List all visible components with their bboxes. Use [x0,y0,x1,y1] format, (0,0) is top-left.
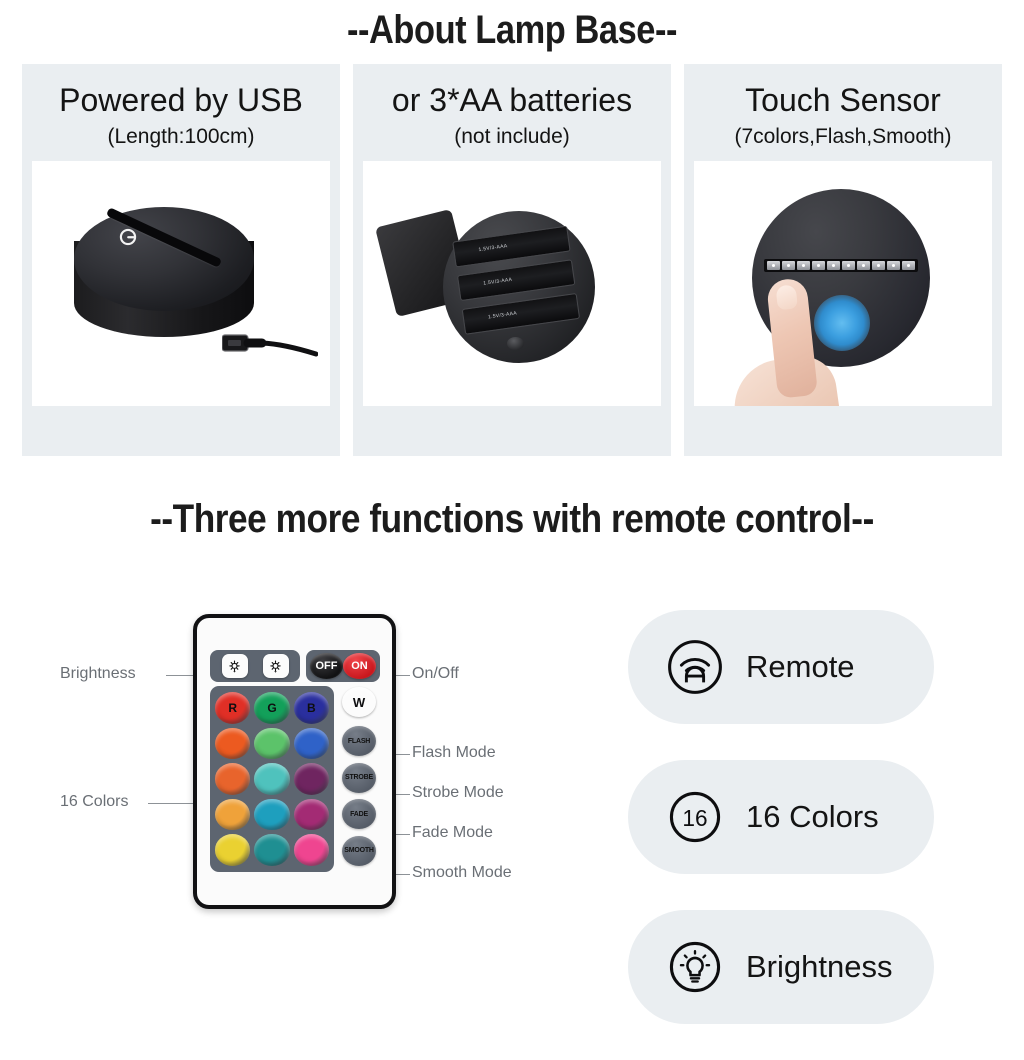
callout-on-off: On/Off [412,665,459,683]
sun-down-icon [268,659,283,674]
remote-control[interactable]: OFF ON R G B [193,614,396,909]
led-chip [887,261,900,270]
battery-slot: 1.5V/3-AAA [462,293,580,335]
battery-bay: 1.5V/3-AAA 1.5V/3-AAA 1.5V/3-AAA [452,225,584,346]
remote-keypad: OFF ON R G B [210,650,380,872]
led-chip [872,261,885,270]
led-strip [764,259,918,272]
card-touch-sensor: Touch Sensor (7colors,Flash,Smooth) [684,64,1002,456]
brightness-bulb-icon [666,938,724,996]
fade-mode-button[interactable]: FADE [342,799,376,829]
lamp-base-underside: 1.5V/3-AAA 1.5V/3-AAA 1.5V/3-AAA [443,211,595,363]
card-subtitle: (7colors,Flash,Smooth) [734,125,951,149]
color-button-cyan-2[interactable] [254,799,289,831]
feature-pill-list: Remote 16 16 Colors Brightness [628,610,934,1060]
led-chip [857,261,870,270]
color-button-orange-3[interactable] [215,799,250,831]
feature-pill-label: Brightness [746,949,892,985]
lamp-base-top-surface [74,207,254,311]
touch-sensor-glow [814,295,870,351]
brightness-button-group [210,650,300,682]
color-button-blue-2[interactable] [294,728,329,760]
led-chip [767,261,780,270]
battery-compartment-illustration: 1.5V/3-AAA 1.5V/3-AAA 1.5V/3-AAA [385,199,643,379]
color-button-green[interactable]: G [254,692,289,724]
lamp-base-illustration [74,207,254,357]
brightness-down-button[interactable] [263,654,289,678]
color-button-grid: R G B [210,686,334,872]
color-button-purple-1[interactable] [294,763,329,795]
callout-strobe-mode: Strobe Mode [412,784,504,802]
battery-slot-label: 1.5V/3-AAA [483,277,513,287]
page-title-lamp-base: --About Lamp Base-- [72,8,953,53]
card-aa-batteries: or 3*AA batteries (not include) 1.5V/3-A… [353,64,671,456]
brightness-up-button[interactable] [222,654,248,678]
lamp-base-card-row: Powered by USB (Length:100cm) [22,64,1002,456]
remote-right-column: W FLASH STROBE FADE SMOOTH [338,686,380,872]
color-button-orange-1[interactable] [215,728,250,760]
sun-up-icon [227,659,242,674]
color-button-cyan-1[interactable] [254,763,289,795]
feature-pill-remote: Remote [628,610,934,724]
color-button-yellow[interactable] [215,834,250,866]
flash-mode-button[interactable]: FLASH [342,726,376,756]
on-button[interactable]: ON [343,653,376,679]
led-chip [797,261,810,270]
card-subtitle: (Length:100cm) [107,125,254,149]
battery-slot-label: 1.5V/3-AAA [478,243,508,253]
usb-lamp-base-photo [32,161,330,406]
card-title: Powered by USB [59,82,303,119]
mode-button-group: FLASH STROBE FADE SMOOTH [338,720,380,872]
card-powered-by-usb: Powered by USB (Length:100cm) [22,64,340,456]
color-button-red[interactable]: R [215,692,250,724]
feature-pill-label: 16 Colors [746,799,879,835]
off-button[interactable]: OFF [310,653,343,679]
callout-fade-mode: Fade Mode [412,824,493,842]
feature-pill-label: Remote [746,649,855,685]
svg-text:16: 16 [682,805,707,831]
color-button-blue[interactable]: B [294,692,329,724]
color-button-magenta-1[interactable] [294,799,329,831]
callout-smooth-mode: Smooth Mode [412,864,512,882]
power-touch-icon [118,227,138,247]
callout-16-colors: 16 Colors [60,793,128,811]
battery-slot-label: 1.5V/3-AAA [488,310,518,320]
color-button-green-2[interactable] [254,728,289,760]
battery-compartment-photo: 1.5V/3-AAA 1.5V/3-AAA 1.5V/3-AAA [363,161,661,406]
feature-pill-16-colors: 16 16 Colors [628,760,934,874]
led-chip [827,261,840,270]
card-subtitle: (not include) [454,125,570,149]
remote-signal-icon [666,638,724,696]
smooth-mode-button[interactable]: SMOOTH [342,836,376,866]
led-chip [902,261,915,270]
strobe-mode-button[interactable]: STROBE [342,763,376,793]
led-chip [782,261,795,270]
touch-sensor-photo [694,161,992,406]
fingernail [776,284,798,310]
color-button-orange-2[interactable] [215,763,250,795]
power-button-group: OFF ON [306,650,380,682]
led-chip [842,261,855,270]
remote-control-section: Brightness 16 Colors On/Off Flash Mode S… [0,596,1024,1016]
feature-pill-brightness: Brightness [628,910,934,1024]
card-title: Touch Sensor [745,82,941,119]
usb-cable [222,327,318,361]
section-title-remote-functions: --Three more functions with remote contr… [61,497,962,542]
color-button-pink[interactable] [294,834,329,866]
color-button-teal[interactable] [254,834,289,866]
white-button[interactable]: W [342,687,376,717]
callout-flash-mode: Flash Mode [412,744,496,762]
remote-top-row: OFF ON [210,650,380,682]
sixteen-circle-icon: 16 [666,788,724,846]
card-title: or 3*AA batteries [392,82,632,119]
led-chip [812,261,825,270]
callout-brightness: Brightness [60,665,136,683]
